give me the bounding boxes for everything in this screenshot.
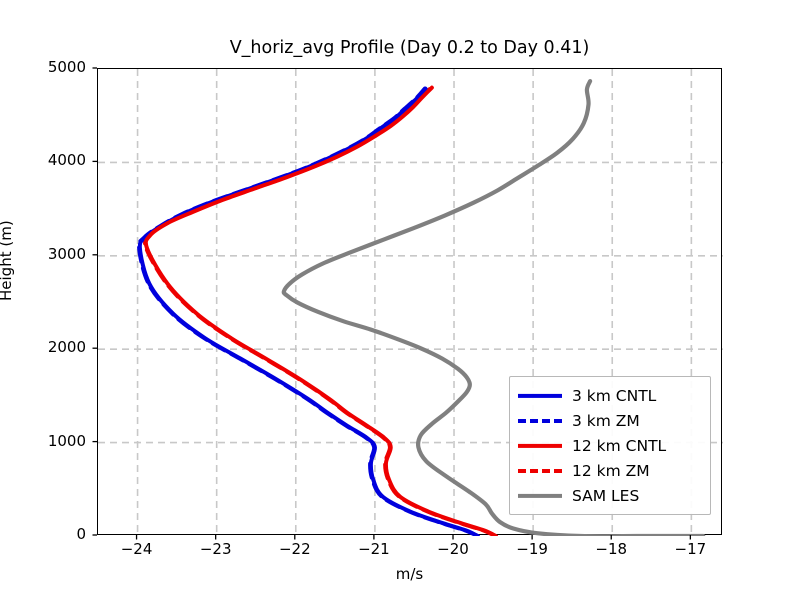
chart-figure: V_horiz_avg Profile (Day 0.2 to Day 0.41…	[0, 0, 800, 600]
legend[interactable]: 3 km CNTL3 km ZM12 km CNTL12 km ZMSAM LE…	[509, 376, 711, 515]
legend-line-swatch	[518, 414, 562, 428]
series-line	[140, 89, 478, 536]
legend-line-swatch	[518, 389, 562, 403]
x-tick-label: −22	[279, 540, 311, 558]
series-line	[139, 89, 478, 536]
legend-line-swatch	[518, 464, 562, 478]
chart-title: V_horiz_avg Profile (Day 0.2 to Day 0.41…	[97, 38, 722, 58]
x-tick-label: −20	[437, 540, 469, 558]
legend-item-label: 3 km ZM	[572, 412, 640, 430]
legend-item[interactable]: 12 km CNTL	[518, 433, 702, 458]
legend-line-swatch	[518, 489, 562, 503]
legend-item-label: 12 km CNTL	[572, 437, 666, 455]
legend-item[interactable]: 3 km ZM	[518, 408, 702, 433]
x-tick-label: −23	[200, 540, 232, 558]
x-tick-label: −17	[675, 540, 707, 558]
x-axis-label: m/s	[97, 565, 722, 583]
legend-item-label: 3 km CNTL	[572, 387, 656, 405]
legend-item[interactable]: 12 km ZM	[518, 458, 702, 483]
y-axis-label: Height (m)	[0, 220, 15, 301]
x-tick-label: −18	[595, 540, 627, 558]
x-tick-label: −24	[121, 540, 153, 558]
legend-item[interactable]: 3 km CNTL	[518, 383, 702, 408]
legend-item-label: 12 km ZM	[572, 462, 650, 480]
legend-line-swatch	[518, 439, 562, 453]
x-tick-label: −19	[516, 540, 548, 558]
legend-item[interactable]: SAM LES	[518, 483, 702, 508]
legend-item-label: SAM LES	[572, 487, 639, 505]
x-tick-label: −21	[358, 540, 390, 558]
